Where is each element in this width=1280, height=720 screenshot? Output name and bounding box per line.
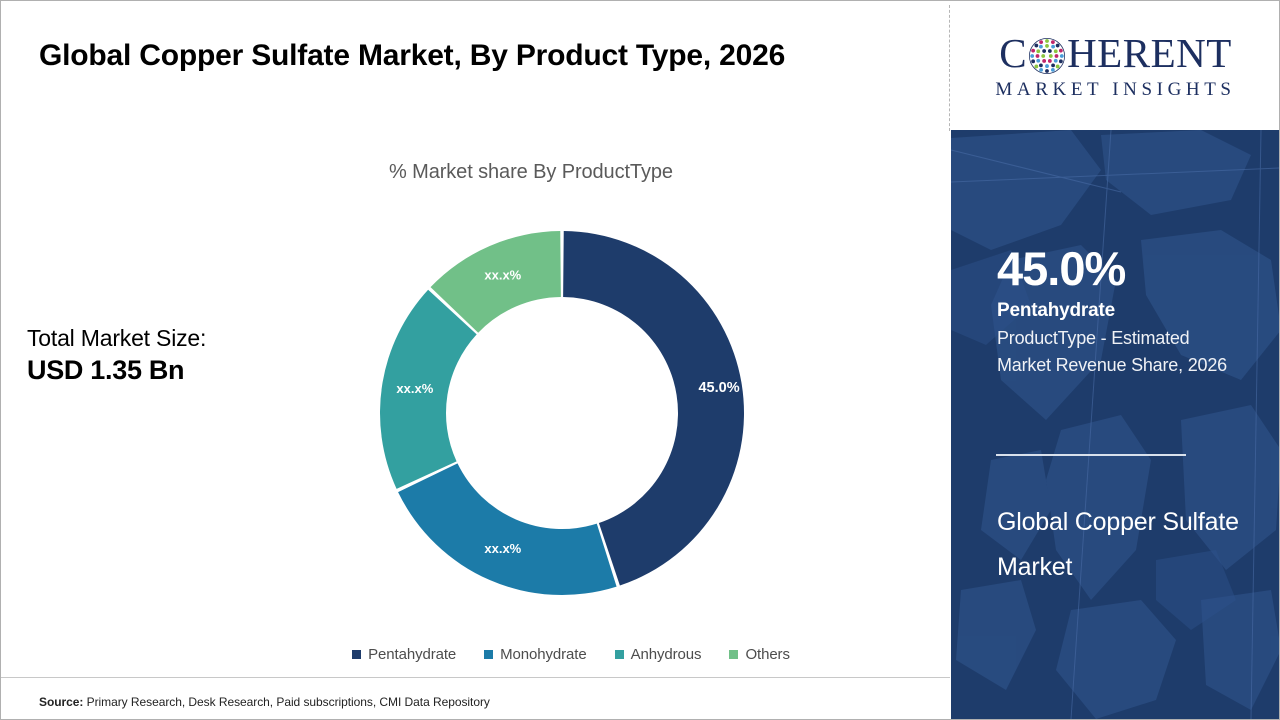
logo-word-herent: HERENT	[1067, 33, 1232, 74]
donut-slice-group	[380, 231, 744, 595]
highlight-market-name: Global Copper Sulfate Market	[997, 500, 1247, 589]
total-market-size-value: USD 1.35 Bn	[27, 351, 327, 390]
legend-swatch-icon	[484, 650, 493, 659]
page-title: Global Copper Sulfate Market, By Product…	[39, 31, 909, 81]
highlight-panel-content: 45.0% Pentahydrate ProductType - Estimat…	[951, 130, 1280, 719]
globe-dots-icon	[1028, 37, 1066, 75]
logo-tagline: MARKET INSIGHTS	[995, 80, 1235, 99]
left-content-area: Global Copper Sulfate Market, By Product…	[1, 1, 950, 719]
brand-logo: C	[951, 2, 1280, 130]
infographic-page: Global Copper Sulfate Market, By Product…	[0, 0, 1280, 720]
legend-swatch-icon	[352, 650, 361, 659]
highlight-description: ProductType - Estimated Market Revenue S…	[997, 325, 1247, 380]
legend-label: Pentahydrate	[368, 646, 456, 663]
donut-slice-label-pentahydrate: 45.0%	[698, 380, 739, 396]
highlight-divider	[996, 454, 1186, 456]
donut-slice-monohydrate	[398, 463, 617, 595]
chart-subtitle: % Market share By ProductType	[389, 161, 809, 184]
total-market-size-block: Total Market Size: USD 1.35 Bn	[27, 325, 327, 391]
logo-wordmark: C	[999, 33, 1232, 74]
legend-item-monohydrate[interactable]: Monohydrate	[484, 646, 586, 663]
logo-letter-c: C	[999, 33, 1027, 74]
legend-item-pentahydrate[interactable]: Pentahydrate	[352, 646, 456, 663]
donut-slice-label-anhydrous: xx.x%	[396, 381, 433, 396]
legend-swatch-icon	[729, 650, 738, 659]
donut-slice-label-monohydrate: xx.x%	[484, 541, 521, 556]
legend-label: Monohydrate	[500, 646, 586, 663]
legend-label: Others	[745, 646, 789, 663]
chart-legend: PentahydrateMonohydrateAnhydrousOthers	[321, 646, 821, 663]
source-text: Primary Research, Desk Research, Paid su…	[87, 695, 490, 709]
source-line: Source: Primary Research, Desk Research,…	[39, 695, 490, 709]
legend-item-anhydrous[interactable]: Anhydrous	[615, 646, 702, 663]
highlight-percent: 45.0%	[997, 245, 1125, 292]
legend-item-others[interactable]: Others	[729, 646, 789, 663]
highlight-segment-name: Pentahydrate	[997, 301, 1115, 320]
donut-chart: 45.0%xx.x%xx.x%xx.x%	[372, 223, 752, 603]
highlight-panel: 45.0% Pentahydrate ProductType - Estimat…	[951, 130, 1280, 719]
legend-swatch-icon	[615, 650, 624, 659]
footer-divider	[1, 677, 950, 678]
donut-chart-svg: 45.0%xx.x%xx.x%xx.x%	[372, 223, 752, 603]
donut-slice-label-others: xx.x%	[484, 268, 521, 283]
legend-label: Anhydrous	[631, 646, 702, 663]
total-market-size-label: Total Market Size:	[27, 325, 327, 351]
source-label: Source:	[39, 695, 83, 709]
vertical-dashed-divider	[949, 5, 950, 131]
